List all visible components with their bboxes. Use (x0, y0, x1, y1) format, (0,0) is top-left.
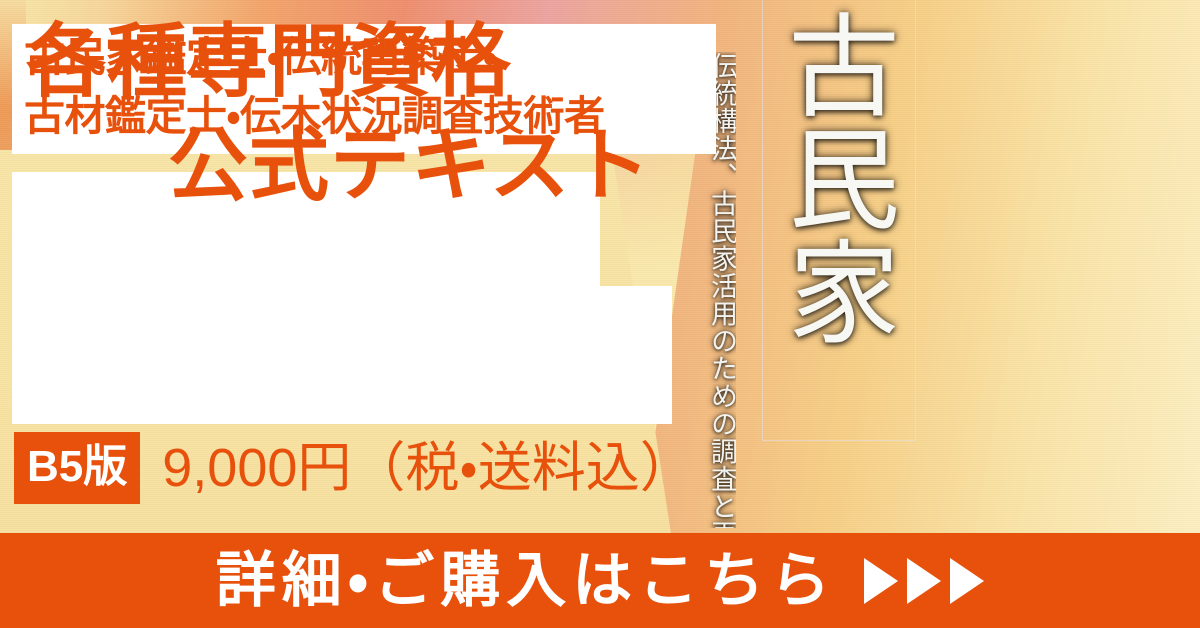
price-amount: 9,000円（税・送料込） (162, 441, 694, 495)
cover-title-vertical: 古民家 (772, 8, 904, 347)
headline-line-2: 公式テキスト (18, 114, 658, 218)
promo-banner: 古民家 伝統構法、古民家活用のための調査と再生の 古民家鑑定士・伝統再築士・ 古… (0, 0, 1200, 628)
headline-text: 各種専門資格 公式テキスト (18, 10, 658, 218)
cta-bar[interactable]: 詳細・ご購入はこちら (0, 533, 1200, 628)
triangle-right-icon (950, 558, 984, 604)
triangle-right-icon (864, 558, 898, 604)
cta-label: 詳細・ご購入はこちら (216, 551, 836, 611)
price-row: B5版 9,000円（税・送料込） (14, 432, 694, 504)
headline-line-1: 各種専門資格 (18, 10, 658, 114)
cta-arrows (864, 558, 984, 604)
size-badge: B5版 (14, 432, 140, 504)
triangle-right-icon (907, 558, 941, 604)
